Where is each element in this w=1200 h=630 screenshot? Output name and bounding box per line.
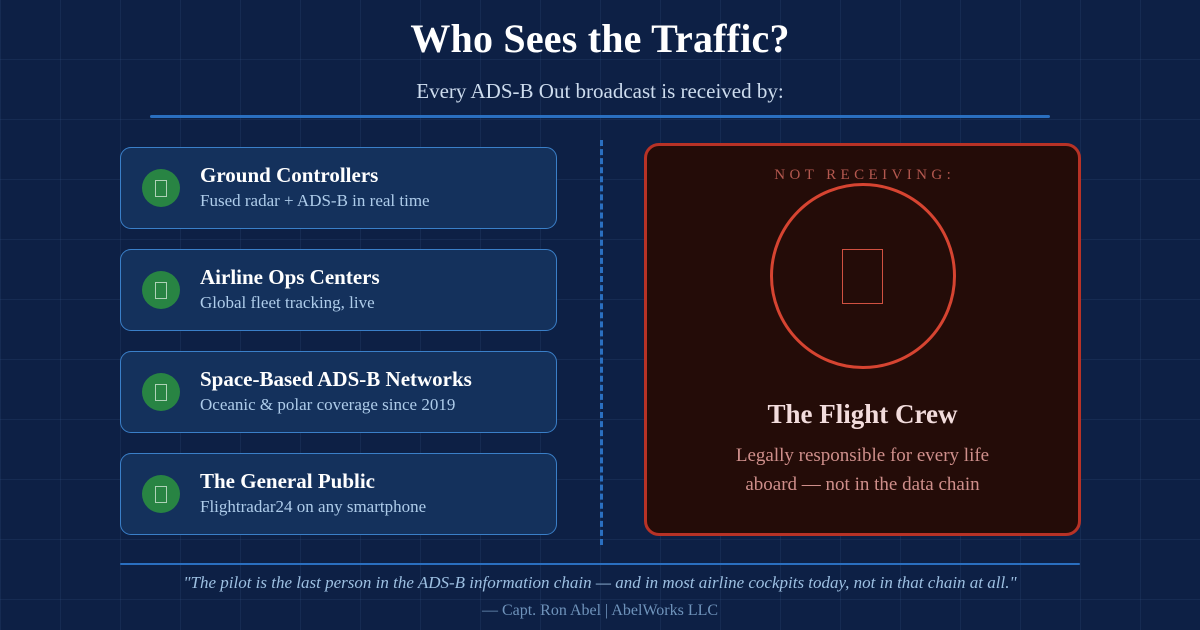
page-title: Who Sees the Traffic? <box>0 0 1200 59</box>
infographic-page: Who Sees the Traffic? Every ADS-B Out br… <box>0 0 1200 630</box>
receiver-card: Space-Based ADS-B Networks Oceanic & pol… <box>120 351 557 433</box>
receiver-subtitle: Global fleet tracking, live <box>200 289 556 313</box>
header-divider-rule <box>150 115 1050 118</box>
excluded-heading: The Flight Crew <box>647 401 1078 428</box>
footer-divider-rule <box>120 563 1080 565</box>
missing-glyph-box-icon <box>155 384 167 401</box>
receiver-title: Space-Based ADS-B Networks <box>200 367 556 391</box>
footer-attribution: — Capt. Ron Abel | AbelWorks LLC <box>0 591 1200 619</box>
not-receiving-panel: NOT RECEIVING: The Flight Crew Legally r… <box>644 143 1081 536</box>
excluded-body: Legally responsible for every life aboar… <box>647 442 1078 500</box>
missing-glyph-box-icon <box>155 282 167 299</box>
header: Who Sees the Traffic? Every ADS-B Out br… <box>0 0 1200 102</box>
page-subtitle: Every ADS-B Out broadcast is received by… <box>0 59 1200 102</box>
receiver-card: Airline Ops Centers Global fleet trackin… <box>120 249 557 331</box>
receiver-subtitle: Flightradar24 on any smartphone <box>200 493 556 517</box>
receiver-text: Space-Based ADS-B Networks Oceanic & pol… <box>200 367 556 418</box>
footer: "The pilot is the last person in the ADS… <box>0 574 1200 619</box>
missing-glyph-box-icon <box>842 249 883 304</box>
receivers-list: Ground Controllers Fused radar + ADS-B i… <box>120 147 557 535</box>
receiver-subtitle: Oceanic & polar coverage since 2019 <box>200 391 556 415</box>
excluded-emblem-circle <box>770 183 956 369</box>
check-badge <box>142 475 180 513</box>
receiver-title: Airline Ops Centers <box>200 265 556 289</box>
column-divider <box>600 140 603 545</box>
missing-glyph-box-icon <box>155 180 167 197</box>
receiver-card: Ground Controllers Fused radar + ADS-B i… <box>120 147 557 229</box>
excluded-body-line-1: Legally responsible for every life <box>736 445 989 466</box>
check-badge <box>142 169 180 207</box>
missing-glyph-box-icon <box>155 486 167 503</box>
excluded-body-line-2: aboard — not in the data chain <box>745 474 979 495</box>
receiver-text: The General Public Flightradar24 on any … <box>200 469 556 520</box>
footer-quote: "The pilot is the last person in the ADS… <box>0 574 1200 591</box>
receiver-subtitle: Fused radar + ADS-B in real time <box>200 187 556 211</box>
check-badge <box>142 373 180 411</box>
receiver-title: The General Public <box>200 469 556 493</box>
not-receiving-label: NOT RECEIVING: <box>647 146 1078 184</box>
receiver-title: Ground Controllers <box>200 163 556 187</box>
receiver-card: The General Public Flightradar24 on any … <box>120 453 557 535</box>
receiver-text: Airline Ops Centers Global fleet trackin… <box>200 265 556 316</box>
check-badge <box>142 271 180 309</box>
receiver-text: Ground Controllers Fused radar + ADS-B i… <box>200 163 556 214</box>
